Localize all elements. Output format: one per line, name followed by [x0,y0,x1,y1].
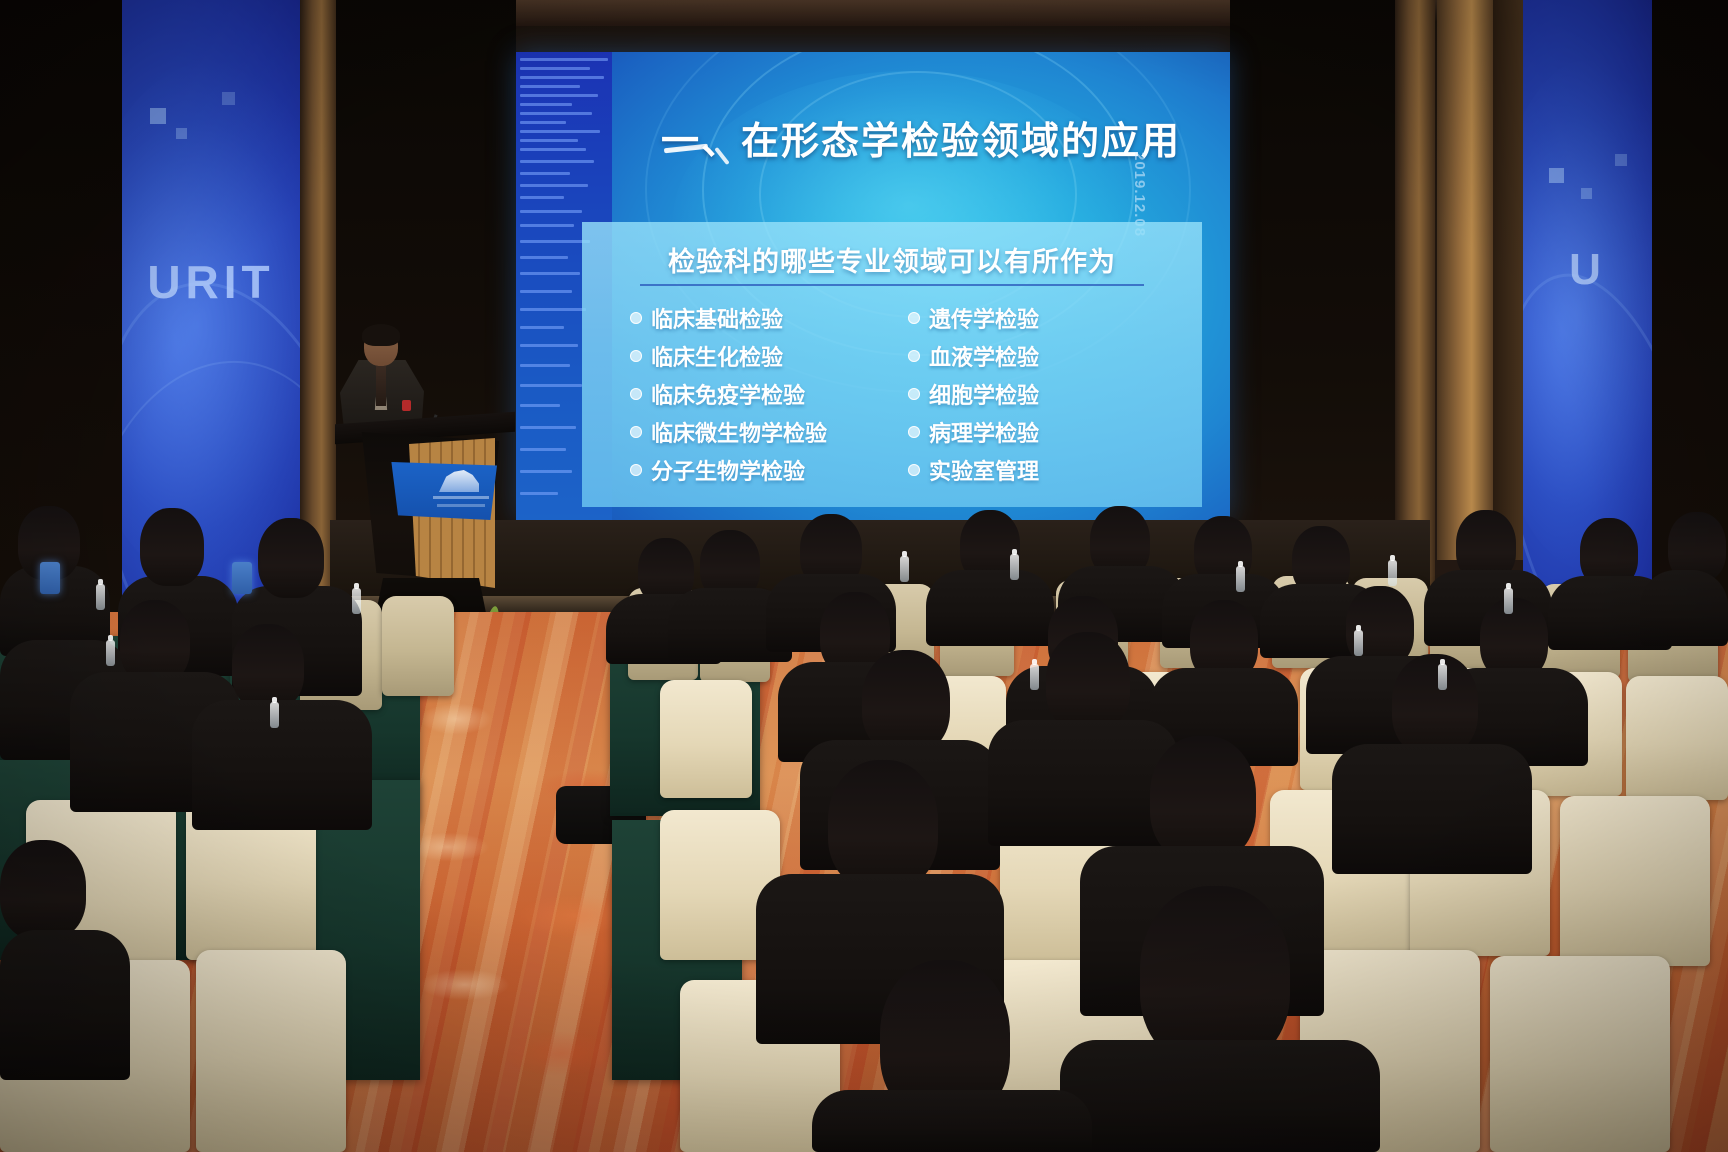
list-item: 分子生物学检验 [630,452,908,488]
water-bottle [1438,664,1447,690]
list-item: 实验室管理 [908,452,1186,488]
list-item: 临床免疫学检验 [630,376,908,412]
podium-plaque [387,462,497,520]
bullet-dot-icon [908,312,920,324]
chair [1626,676,1728,800]
water-bottle [1354,630,1363,656]
led-square [222,92,235,105]
attendee-shoulders [1332,744,1532,874]
water-bottle [1388,560,1397,586]
bullet-dot-icon [908,426,920,438]
bullet-dot-icon [908,388,920,400]
list-item: 病理学检验 [908,414,1186,450]
bullet-dot-icon [630,426,642,438]
attendee-head [258,518,324,598]
slide-divider [640,284,1144,286]
bullet-dot-icon [630,350,642,362]
chair [196,950,346,1152]
list-item: 临床生化检验 [630,338,908,374]
attendee-head [232,624,304,710]
wood-column-right-edge [1493,0,1523,560]
chair [660,680,752,798]
water-bottle [1236,566,1245,592]
attendee-shoulders [812,1090,1092,1152]
side-led-screen-right: U [1523,0,1652,600]
slide-content-panel: 检验科的哪些专业领域可以有所作为 临床基础检验 临床生化检验 临床免疫学检验 [582,222,1202,507]
speaker-hair [362,324,400,346]
chair [1560,796,1710,966]
bullet-dot-icon [908,350,920,362]
attendee-shoulders [192,700,372,830]
attendee-shoulders [1640,570,1728,646]
water-bottle [1504,588,1513,614]
attendee-head [0,840,86,940]
attendee-head [1392,654,1478,756]
slide-bullet-columns: 临床基础检验 临床生化检验 临床免疫学检验 临床微生物学检验 分子生物学检验 [630,300,1186,490]
bullet-dot-icon [908,464,920,476]
water-bottle [1010,554,1019,580]
attendee-shoulders [926,570,1054,646]
list-item: 遗传学检验 [908,300,1186,336]
water-bottle [270,702,279,728]
list-item: 临床微生物学检验 [630,414,908,450]
side-brand-label-right: U [1523,245,1652,295]
led-square [1549,168,1564,183]
speaker-lapel-badge [402,400,411,411]
led-square [1615,154,1627,166]
led-square [150,108,166,124]
attendee-shoulders [1060,1040,1380,1152]
slide-column-right: 遗传学检验 血液学检验 细胞学检验 病理学检验 实验室管理 [908,300,1186,490]
attendee-head [1046,632,1130,732]
smartphone [40,562,60,594]
slide-column-left: 临床基础检验 临床生化检验 临床免疫学检验 临床微生物学检验 分子生物学检验 [630,300,908,490]
attendee-head [1150,736,1256,862]
attendee-shoulders [0,930,130,1080]
led-square [1581,188,1592,199]
water-bottle [106,640,115,666]
attendee-shoulders [988,720,1178,846]
bullet-dot-icon [630,464,642,476]
attendee-head [862,650,950,754]
water-bottle [352,588,361,614]
list-item: 临床基础检验 [630,300,908,336]
list-item: 血液学检验 [908,338,1186,374]
led-square [176,128,187,139]
bullet-dot-icon [630,388,642,400]
list-item: 细胞学检验 [908,376,1186,412]
bullet-dot-icon [630,312,642,324]
chair [1490,956,1670,1152]
hotel-logo-icon [439,470,479,492]
chair [382,596,454,696]
wood-column-right [1437,0,1493,560]
water-bottle [96,584,105,610]
attendee-head [828,760,938,890]
attendee-head [140,508,204,586]
speaker-tie [376,366,386,406]
water-bottle [900,556,909,582]
conference-hall-photo: URIT U [0,0,1728,1152]
smartphone [232,562,252,594]
attendee-head [1140,886,1290,1066]
water-bottle [1030,664,1039,690]
slide-panel-title: 检验科的哪些专业领域可以有所作为 [582,240,1202,279]
side-brand-label-left: URIT [122,255,300,309]
